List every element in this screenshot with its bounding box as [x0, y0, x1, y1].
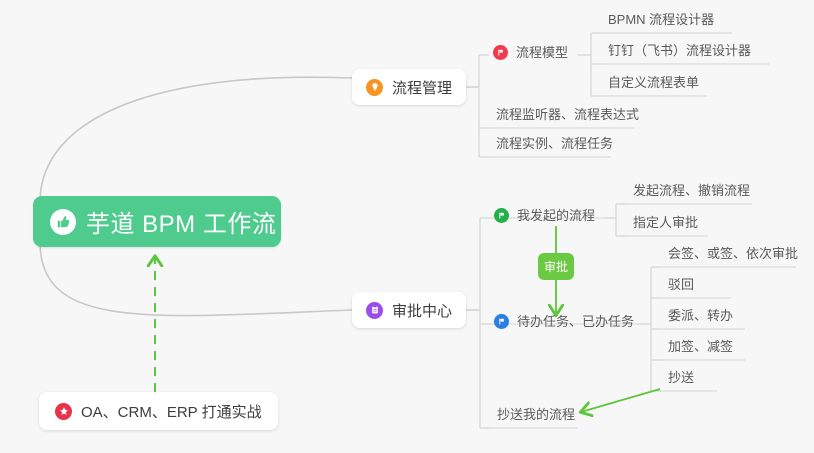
- lightbulb-icon: [366, 79, 383, 96]
- edge-root-to-process-management: [40, 77, 352, 200]
- node-bpmn-designer[interactable]: BPMN 流程设计器: [601, 11, 721, 33]
- flag-icon: [494, 208, 509, 223]
- node-assignee-approval[interactable]: 指定人审批: [626, 214, 705, 236]
- node-label-instance-task: 流程实例、流程任务: [496, 136, 613, 151]
- node-label-cc: 抄送: [668, 370, 694, 385]
- thumbs-up-icon: [50, 209, 76, 235]
- node-label-custom-process-form: 自定义流程表单: [608, 75, 699, 90]
- node-label-assignee-approval: 指定人审批: [633, 215, 698, 230]
- node-delegate-transfer[interactable]: 委派、转办: [661, 307, 740, 329]
- node-label-bpmn-designer: BPMN 流程设计器: [608, 12, 714, 27]
- star-icon: [55, 403, 72, 420]
- callout-node-integration[interactable]: OA、CRM、ERP 打通实战: [39, 392, 278, 430]
- node-label-my-initiated-process: 我发起的流程: [517, 207, 595, 224]
- node-label-start-cancel-process: 发起流程、撤销流程: [633, 183, 750, 198]
- node-label-listener-expression: 流程监听器、流程表达式: [496, 107, 639, 122]
- node-cc-to-me-process[interactable]: 抄送我的流程: [490, 406, 582, 428]
- node-label-todo-done-tasks: 待办任务、已办任务: [517, 313, 634, 330]
- node-cc[interactable]: 抄送: [661, 369, 701, 391]
- branch-node-approval-center[interactable]: 审批中心: [352, 292, 466, 328]
- node-listener-expression[interactable]: 流程监听器、流程表达式: [489, 106, 646, 128]
- arrow-cc-to-cc-my-process: [581, 389, 660, 412]
- node-start-cancel-process[interactable]: 发起流程、撤销流程: [626, 182, 757, 204]
- node-todo-done-tasks[interactable]: 待办任务、已办任务: [492, 313, 641, 335]
- branch-label-process-management: 流程管理: [392, 77, 452, 98]
- node-custom-process-form[interactable]: 自定义流程表单: [601, 74, 706, 96]
- node-label-cc-to-me-process: 抄送我的流程: [497, 407, 575, 422]
- node-countersign-or-sequential[interactable]: 会签、或签、依次审批: [661, 245, 805, 267]
- node-label-process-model: 流程模型: [516, 44, 568, 61]
- callout-label: OA、CRM、ERP 打通实战: [81, 401, 262, 422]
- approval-badge: 审批: [538, 253, 574, 280]
- root-node[interactable]: 芋道 BPM 工作流: [33, 196, 281, 247]
- branch-label-approval-center: 审批中心: [392, 300, 452, 321]
- node-label-reject: 驳回: [668, 277, 694, 292]
- node-label-dingtalk-feishu-designer: 钉钉（飞书）流程设计器: [608, 43, 751, 58]
- node-reject[interactable]: 驳回: [661, 276, 701, 298]
- node-add-remove-sign[interactable]: 加签、减签: [661, 338, 740, 360]
- node-instance-task[interactable]: 流程实例、流程任务: [489, 135, 620, 157]
- flag-icon: [493, 45, 508, 60]
- branch-node-process-management[interactable]: 流程管理: [352, 69, 466, 105]
- node-my-initiated-process[interactable]: 我发起的流程: [492, 207, 602, 229]
- node-dingtalk-feishu-designer[interactable]: 钉钉（飞书）流程设计器: [601, 42, 758, 64]
- root-label: 芋道 BPM 工作流: [86, 204, 276, 239]
- node-label-add-remove-sign: 加签、减签: [668, 339, 733, 354]
- flag-icon: [494, 314, 509, 329]
- mindmap-canvas: 芋道 BPM 工作流 流程管理 流程模型 BPMN 流程设计: [0, 0, 814, 453]
- approval-badge-label: 审批: [544, 261, 568, 273]
- node-label-delegate-transfer: 委派、转办: [668, 308, 733, 323]
- clipboard-icon: [366, 302, 383, 319]
- edge-root-to-approval-center: [40, 244, 352, 316]
- node-process-model[interactable]: 流程模型: [491, 44, 575, 66]
- node-label-countersign-or-sequential: 会签、或签、依次审批: [668, 246, 798, 261]
